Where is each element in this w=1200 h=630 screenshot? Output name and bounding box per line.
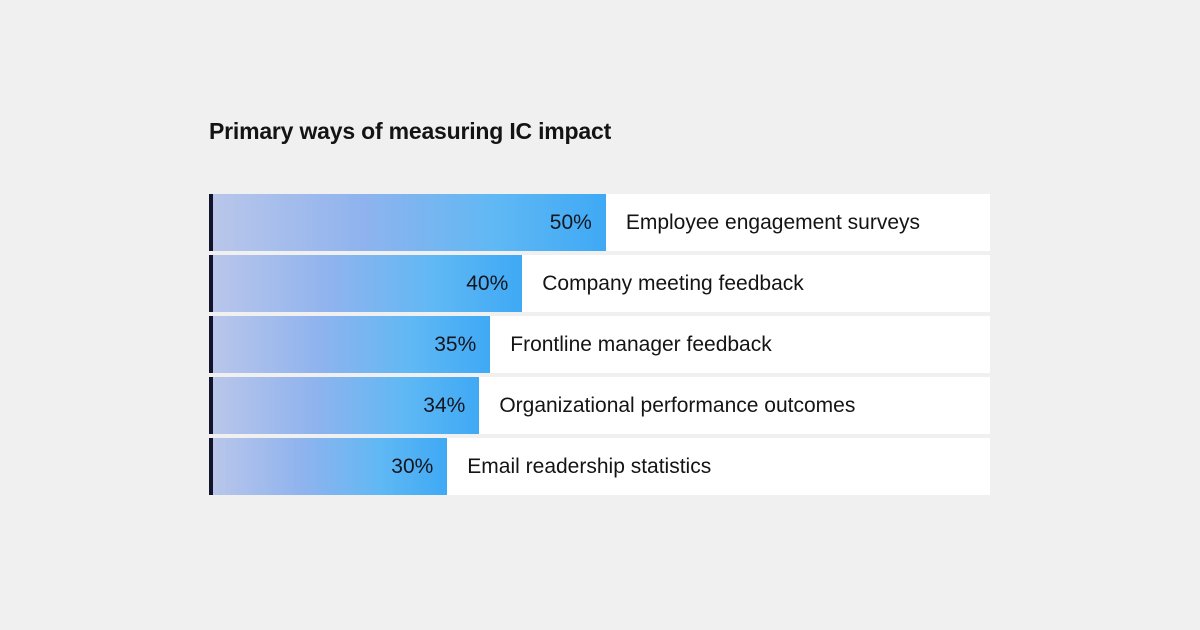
bar-value-label: 34% bbox=[423, 394, 479, 418]
bar-fill: 40% bbox=[213, 255, 522, 312]
bar-category-label: Email readership statistics bbox=[447, 438, 990, 495]
bar-value-label: 35% bbox=[434, 333, 490, 357]
bar-row: 30% Email readership statistics bbox=[209, 438, 990, 495]
chart-canvas: Primary ways of measuring IC impact 50% … bbox=[0, 0, 1200, 630]
bar-category-label: Employee engagement surveys bbox=[606, 194, 990, 251]
bar-fill: 34% bbox=[213, 377, 479, 434]
bar-fill: 35% bbox=[213, 316, 490, 373]
bar-category-label: Company meeting feedback bbox=[522, 255, 990, 312]
bar-category-label: Organizational performance outcomes bbox=[479, 377, 990, 434]
bar-row: 34% Organizational performance outcomes bbox=[209, 377, 990, 434]
bar-row: 40% Company meeting feedback bbox=[209, 255, 990, 312]
bar-row: 50% Employee engagement surveys bbox=[209, 194, 990, 251]
chart-title: Primary ways of measuring IC impact bbox=[209, 118, 611, 145]
bar-row: 35% Frontline manager feedback bbox=[209, 316, 990, 373]
bar-chart: 50% Employee engagement surveys 40% Comp… bbox=[209, 194, 990, 495]
bar-fill: 30% bbox=[213, 438, 447, 495]
bar-value-label: 30% bbox=[391, 455, 447, 479]
bar-category-label: Frontline manager feedback bbox=[490, 316, 990, 373]
bar-fill: 50% bbox=[213, 194, 606, 251]
bar-value-label: 40% bbox=[466, 272, 522, 296]
bar-value-label: 50% bbox=[550, 211, 606, 235]
